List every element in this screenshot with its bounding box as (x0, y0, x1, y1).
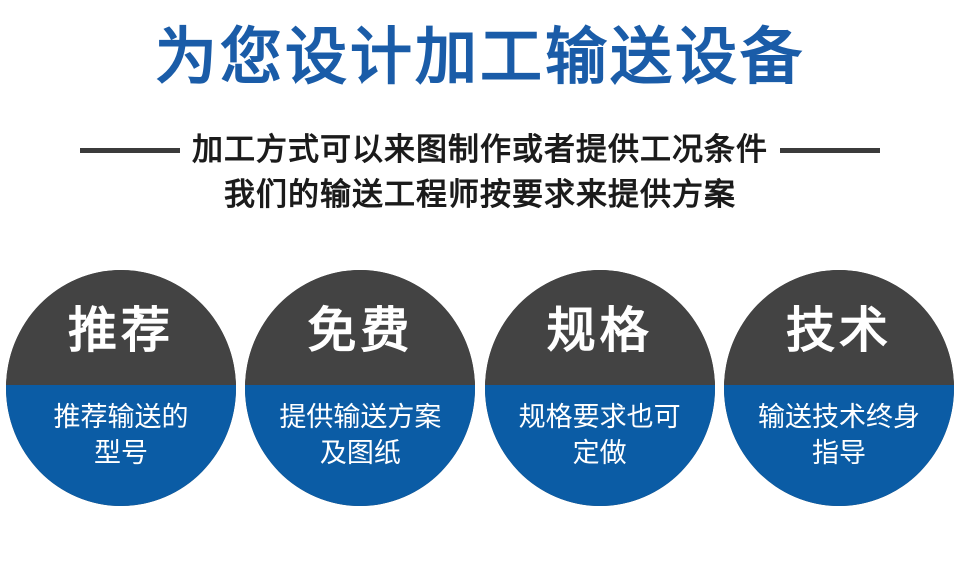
feature-description: 规格要求也可 定做 (485, 385, 715, 506)
subtitle-block: 加工方式可以来图制作或者提供工况条件 我们的输送工程师按要求来提供方案 (0, 128, 960, 218)
feature-circle-specification: 规格 规格要求也可 定做 (485, 270, 715, 506)
feature-description-line-2: 定做 (573, 435, 627, 471)
feature-title: 推荐 (6, 270, 236, 385)
feature-description-line-1: 提供输送方案 (279, 399, 441, 435)
feature-description-line-1: 规格要求也可 (519, 399, 681, 435)
feature-title: 免费 (245, 270, 475, 385)
feature-description: 提供输送方案 及图纸 (245, 385, 475, 506)
subtitle-line-2: 我们的输送工程师按要求来提供方案 (224, 175, 736, 215)
feature-circle-free: 免费 提供输送方案 及图纸 (245, 270, 475, 506)
subtitle-line-1: 加工方式可以来图制作或者提供工况条件 (192, 130, 768, 170)
feature-title: 技术 (724, 270, 954, 385)
feature-description-line-1: 输送技术终身 (758, 399, 920, 435)
subtitle-row-second: 我们的输送工程师按要求来提供方案 (0, 172, 960, 218)
subtitle-row-first: 加工方式可以来图制作或者提供工况条件 (0, 128, 960, 172)
feature-circle-technology: 技术 输送技术终身 指导 (724, 270, 954, 506)
divider-line-left-icon (80, 148, 180, 153)
page-title: 为您设计加工输送设备 (0, 20, 960, 96)
feature-description-line-2: 指导 (812, 435, 866, 471)
divider-line-right-icon (780, 148, 880, 153)
feature-circle-list: 推荐 推荐输送的 型号 免费 提供输送方案 及图纸 规格 规格要求也可 定做 (6, 270, 954, 506)
feature-description-line-2: 型号 (94, 435, 148, 471)
promo-banner: 为您设计加工输送设备 加工方式可以来图制作或者提供工况条件 我们的输送工程师按要… (0, 0, 960, 580)
feature-description: 输送技术终身 指导 (724, 385, 954, 506)
feature-description-line-2: 及图纸 (320, 435, 401, 471)
feature-description: 推荐输送的 型号 (6, 385, 236, 506)
feature-circle-recommend: 推荐 推荐输送的 型号 (6, 270, 236, 506)
feature-title: 规格 (485, 270, 715, 385)
feature-description-line-1: 推荐输送的 (54, 399, 189, 435)
